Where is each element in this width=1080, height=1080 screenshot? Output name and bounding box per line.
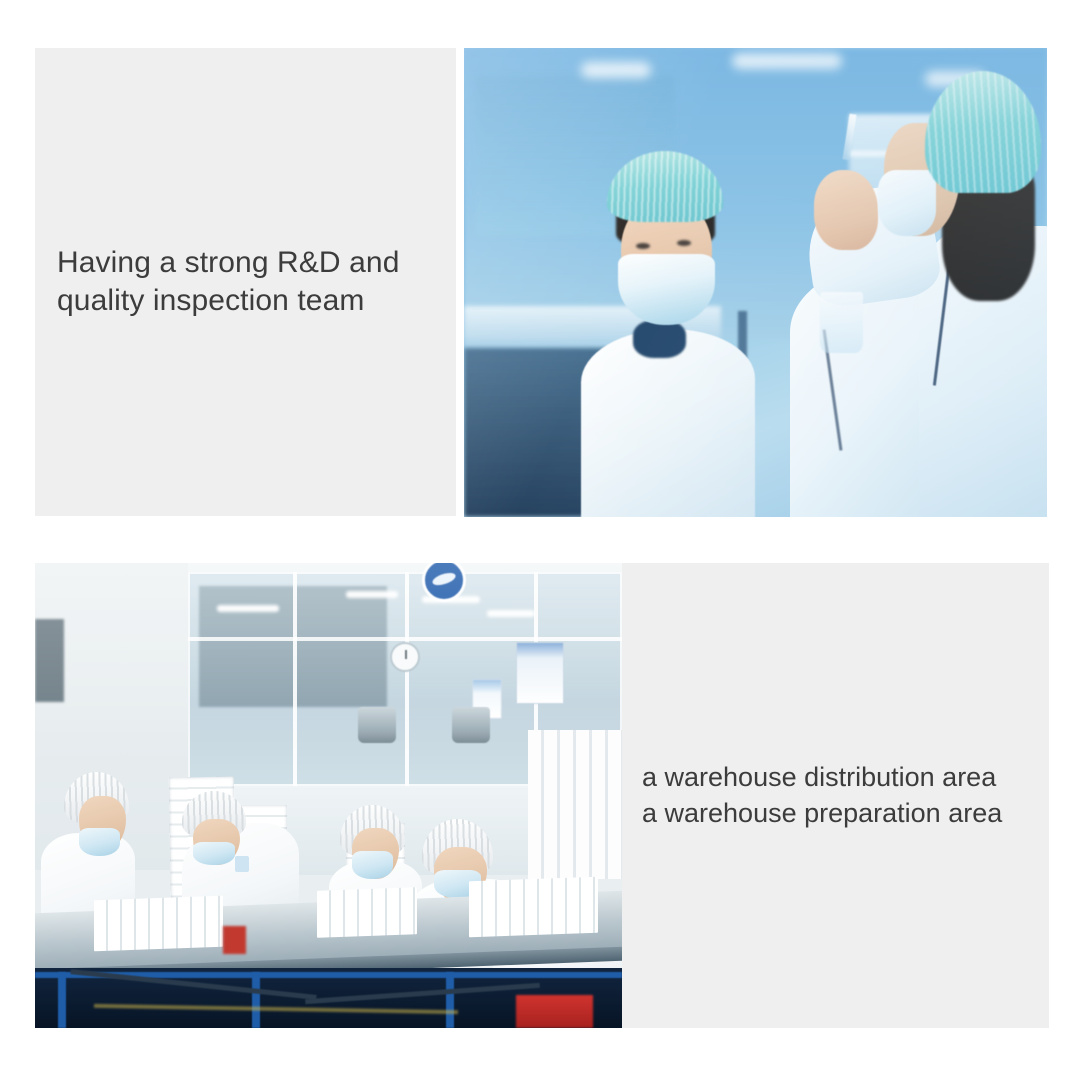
wall-poster [516, 642, 564, 704]
stainless-container [452, 707, 490, 743]
carton-row [94, 896, 223, 952]
laboratory-inspection-photo [464, 48, 1047, 517]
lab-ceiling-light [581, 62, 651, 78]
rnd-caption-line-1: Having a strong R&D and [57, 244, 399, 282]
carton-row [469, 877, 598, 937]
stainless-container [358, 707, 396, 743]
ceiling-strip-light [217, 605, 279, 612]
warehouse-caption-line-1: a warehouse distribution area [642, 760, 1002, 796]
lab-scene [464, 48, 1047, 517]
rnd-caption-line-2: quality inspection team [57, 282, 399, 320]
lab-ceiling-light [732, 53, 842, 69]
red-crate [223, 926, 246, 954]
lab-worker-left-eye [636, 243, 650, 249]
carton-row [317, 887, 417, 937]
glass-mullion-horizontal [188, 637, 622, 641]
section-rnd-quality: Having a strong R&D and quality inspecti… [0, 0, 1080, 540]
red-crate [516, 995, 592, 1028]
warehouse-caption-panel: a warehouse distribution area a warehous… [622, 563, 1049, 1028]
glass-mullion [293, 572, 297, 786]
warehouse-worker-face-mask [193, 842, 234, 865]
warehouse-caption-line-2: a warehouse preparation area [642, 796, 1002, 832]
warehouse-worker-face-mask [352, 851, 393, 879]
warehouse-caption: a warehouse distribution area a warehous… [642, 760, 1002, 832]
worker-badge [235, 856, 249, 872]
table-frame-leg [446, 972, 454, 1028]
warehouse-packing-photo [35, 563, 622, 1028]
glass-mullion [405, 572, 409, 786]
ceiling-strip-light [346, 591, 398, 598]
section-warehouse-areas: a warehouse distribution area a warehous… [0, 540, 1080, 1080]
lab-worker-left-coat [581, 329, 756, 517]
rnd-caption-panel: Having a strong R&D and quality inspecti… [35, 48, 456, 516]
wall-clock-icon [390, 642, 420, 672]
poster-canvas: Having a strong R&D and quality inspecti… [0, 0, 1080, 1080]
carton-stack-tall [528, 730, 622, 879]
ceiling-strip-light [487, 610, 535, 617]
lab-worker-far-face-mask [878, 170, 936, 236]
warehouse-worker-face-mask [79, 828, 120, 856]
lab-beaker [820, 292, 864, 353]
rnd-caption: Having a strong R&D and quality inspecti… [57, 244, 399, 321]
lab-worker-left-collar [633, 320, 685, 358]
warehouse-scene [35, 563, 622, 1028]
table-frame-leg [252, 972, 260, 1028]
warehouse-dark-window [35, 619, 64, 703]
table-frame-leg [58, 972, 66, 1028]
lab-worker-right-hand [814, 170, 878, 250]
